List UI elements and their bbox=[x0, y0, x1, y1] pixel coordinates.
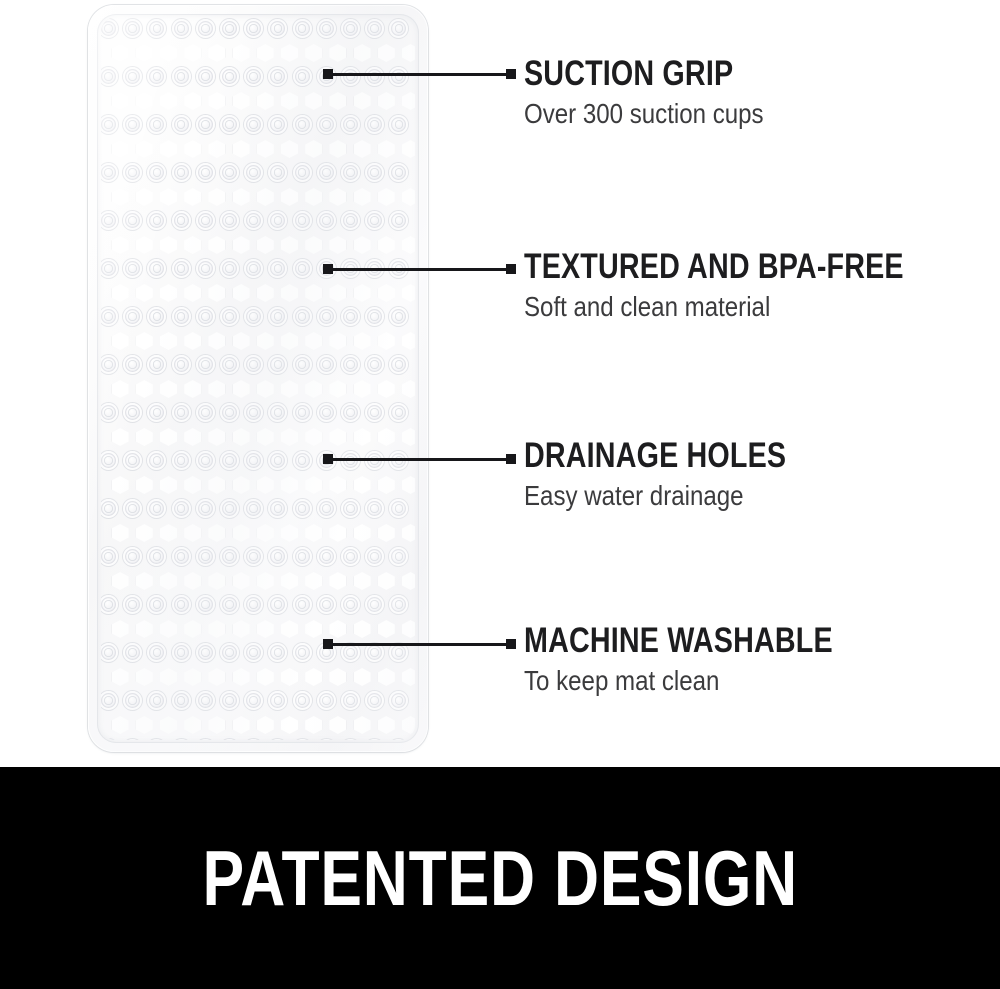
suction-cup bbox=[196, 307, 215, 326]
suction-cup bbox=[123, 643, 142, 662]
drainage-hole bbox=[208, 380, 225, 398]
suction-cup bbox=[147, 67, 166, 86]
drainage-hole bbox=[402, 524, 415, 542]
drainage-hole bbox=[402, 44, 415, 62]
drainage-hole bbox=[257, 140, 274, 158]
suction-cup bbox=[147, 403, 166, 422]
drainage-hole bbox=[305, 476, 322, 494]
suction-cup bbox=[365, 67, 384, 86]
drainage-hole bbox=[112, 284, 129, 302]
suction-cup bbox=[341, 307, 360, 326]
drainage-hole bbox=[257, 476, 274, 494]
drainage-hole bbox=[160, 284, 177, 302]
suction-cup bbox=[365, 595, 384, 614]
suction-cup bbox=[123, 547, 142, 566]
drainage-hole bbox=[305, 44, 322, 62]
suction-cup bbox=[341, 403, 360, 422]
drainage-hole bbox=[233, 572, 250, 590]
suction-cup bbox=[389, 691, 408, 710]
drainage-hole bbox=[329, 428, 346, 446]
suction-cup bbox=[123, 211, 142, 230]
suction-cup bbox=[268, 355, 287, 374]
suction-cup bbox=[101, 595, 118, 614]
suction-cup bbox=[389, 19, 408, 38]
suction-cup bbox=[268, 307, 287, 326]
drainage-hole bbox=[257, 668, 274, 686]
drainage-hole bbox=[305, 620, 322, 638]
suction-cup bbox=[317, 115, 336, 134]
drainage-hole bbox=[112, 140, 129, 158]
drainage-hole bbox=[160, 428, 177, 446]
suction-cup bbox=[172, 163, 191, 182]
drainage-hole bbox=[281, 524, 298, 542]
drainage-hole bbox=[184, 44, 201, 62]
suction-cup bbox=[317, 739, 336, 740]
drainage-hole bbox=[233, 524, 250, 542]
drainage-hole bbox=[112, 620, 129, 638]
mat-row bbox=[101, 89, 415, 113]
drainage-hole bbox=[208, 716, 225, 734]
suction-cup bbox=[101, 739, 118, 740]
drainage-hole bbox=[378, 236, 395, 254]
suction-cup bbox=[341, 115, 360, 134]
drainage-hole bbox=[257, 524, 274, 542]
drainage-hole bbox=[305, 668, 322, 686]
drainage-hole bbox=[136, 332, 153, 350]
drainage-hole bbox=[112, 236, 129, 254]
drainage-hole bbox=[402, 716, 415, 734]
suction-cup bbox=[101, 19, 118, 38]
suction-cup bbox=[293, 67, 312, 86]
drainage-hole bbox=[354, 92, 371, 110]
drainage-hole bbox=[208, 44, 225, 62]
suction-cup bbox=[123, 739, 142, 740]
suction-cup bbox=[196, 211, 215, 230]
suction-cup bbox=[341, 355, 360, 374]
suction-cup bbox=[293, 547, 312, 566]
leader-node-end bbox=[506, 264, 516, 274]
drainage-hole bbox=[112, 524, 129, 542]
drainage-hole bbox=[305, 524, 322, 542]
suction-cup bbox=[147, 307, 166, 326]
suction-cup bbox=[196, 67, 215, 86]
drainage-hole bbox=[378, 140, 395, 158]
suction-cup bbox=[147, 355, 166, 374]
callout-title: SUCTION GRIP bbox=[524, 56, 752, 92]
mat-row bbox=[101, 41, 415, 65]
suction-cup bbox=[365, 739, 384, 740]
mat-row bbox=[101, 737, 415, 740]
drainage-hole bbox=[329, 524, 346, 542]
drainage-hole bbox=[402, 188, 415, 206]
suction-cup bbox=[220, 691, 239, 710]
drainage-hole bbox=[208, 188, 225, 206]
suction-cup bbox=[268, 739, 287, 740]
drainage-hole bbox=[233, 476, 250, 494]
suction-cup bbox=[101, 403, 118, 422]
leader-line bbox=[328, 73, 506, 76]
drainage-hole bbox=[208, 428, 225, 446]
drainage-hole bbox=[354, 476, 371, 494]
drainage-hole bbox=[354, 188, 371, 206]
drainage-hole bbox=[233, 236, 250, 254]
suction-cup bbox=[389, 163, 408, 182]
suction-cup bbox=[123, 595, 142, 614]
suction-cup bbox=[196, 115, 215, 134]
leader-node-end bbox=[506, 639, 516, 649]
mat-row bbox=[101, 209, 415, 233]
drainage-hole bbox=[378, 284, 395, 302]
drainage-hole bbox=[402, 140, 415, 158]
suction-cup bbox=[317, 547, 336, 566]
suction-cup bbox=[220, 643, 239, 662]
drainage-hole bbox=[402, 668, 415, 686]
drainage-hole bbox=[354, 524, 371, 542]
callout-text: MACHINE WASHABLETo keep mat clean bbox=[524, 623, 901, 697]
suction-cup bbox=[147, 739, 166, 740]
drainage-hole bbox=[208, 572, 225, 590]
drainage-hole bbox=[208, 668, 225, 686]
drainage-hole bbox=[329, 380, 346, 398]
callout-title: DRAINAGE HOLES bbox=[524, 438, 786, 474]
drainage-hole bbox=[160, 620, 177, 638]
suction-cup bbox=[196, 499, 215, 518]
suction-cup bbox=[365, 499, 384, 518]
suction-cup bbox=[293, 499, 312, 518]
drainage-hole bbox=[281, 188, 298, 206]
suction-cup bbox=[365, 547, 384, 566]
mat-row bbox=[101, 281, 415, 305]
mat-row bbox=[101, 665, 415, 689]
suction-cup bbox=[172, 499, 191, 518]
drainage-hole bbox=[208, 476, 225, 494]
suction-cup bbox=[172, 115, 191, 134]
suction-cup bbox=[365, 403, 384, 422]
drainage-hole bbox=[305, 188, 322, 206]
suction-cup bbox=[293, 643, 312, 662]
suction-cup bbox=[389, 739, 408, 740]
suction-cup bbox=[147, 163, 166, 182]
drainage-hole bbox=[208, 524, 225, 542]
patented-design-banner: PATENTED DESIGN bbox=[0, 767, 1000, 989]
suction-cup bbox=[365, 211, 384, 230]
suction-cup bbox=[196, 259, 215, 278]
drainage-hole bbox=[378, 380, 395, 398]
suction-cup bbox=[244, 355, 263, 374]
product-image-area: SUCTION GRIPOver 300 suction cupsTEXTURE… bbox=[0, 0, 1000, 767]
drainage-hole bbox=[329, 572, 346, 590]
drainage-hole bbox=[112, 428, 129, 446]
suction-cup bbox=[220, 451, 239, 470]
suction-cup bbox=[293, 739, 312, 740]
suction-cup bbox=[268, 691, 287, 710]
drainage-hole bbox=[233, 428, 250, 446]
suction-cup bbox=[268, 211, 287, 230]
drainage-hole bbox=[378, 188, 395, 206]
suction-cup bbox=[220, 163, 239, 182]
suction-cup bbox=[172, 739, 191, 740]
suction-cup bbox=[172, 259, 191, 278]
drainage-hole bbox=[233, 620, 250, 638]
drainage-hole bbox=[160, 476, 177, 494]
drainage-hole bbox=[305, 716, 322, 734]
drainage-hole bbox=[354, 332, 371, 350]
suction-cup bbox=[341, 595, 360, 614]
drainage-hole bbox=[281, 92, 298, 110]
drainage-hole bbox=[160, 332, 177, 350]
leader-node-end bbox=[506, 69, 516, 79]
callout-subtitle: To keep mat clean bbox=[524, 665, 848, 697]
suction-cup bbox=[365, 355, 384, 374]
suction-cup bbox=[172, 355, 191, 374]
drainage-hole bbox=[112, 188, 129, 206]
mat-row bbox=[101, 401, 415, 425]
suction-cup bbox=[341, 547, 360, 566]
suction-cup bbox=[123, 259, 142, 278]
drainage-hole bbox=[257, 44, 274, 62]
suction-cup bbox=[293, 19, 312, 38]
suction-cup bbox=[244, 643, 263, 662]
drainage-hole bbox=[184, 428, 201, 446]
drainage-hole bbox=[329, 668, 346, 686]
mat-row bbox=[101, 425, 415, 449]
mat-row bbox=[101, 497, 415, 521]
drainage-hole bbox=[329, 236, 346, 254]
drainage-hole bbox=[160, 572, 177, 590]
leader-line bbox=[328, 458, 506, 461]
mat-row bbox=[101, 233, 415, 257]
leader-node-start bbox=[323, 639, 333, 649]
suction-cup bbox=[389, 595, 408, 614]
suction-cup bbox=[268, 451, 287, 470]
drainage-hole bbox=[257, 332, 274, 350]
drainage-hole bbox=[233, 668, 250, 686]
suction-cup bbox=[317, 595, 336, 614]
callout-title: TEXTURED AND BPA-FREE bbox=[524, 249, 904, 285]
mat-row bbox=[101, 305, 415, 329]
suction-cup bbox=[268, 499, 287, 518]
suction-cup bbox=[389, 355, 408, 374]
suction-cup bbox=[293, 307, 312, 326]
drainage-hole bbox=[184, 284, 201, 302]
suction-cup bbox=[293, 403, 312, 422]
drainage-hole bbox=[305, 428, 322, 446]
bath-mat-product bbox=[88, 5, 428, 752]
suction-cup bbox=[389, 67, 408, 86]
drainage-hole bbox=[184, 380, 201, 398]
drainage-hole bbox=[136, 476, 153, 494]
drainage-hole bbox=[184, 332, 201, 350]
drainage-hole bbox=[112, 44, 129, 62]
drainage-hole bbox=[329, 188, 346, 206]
drainage-hole bbox=[305, 572, 322, 590]
drainage-hole bbox=[257, 716, 274, 734]
suction-cup bbox=[147, 211, 166, 230]
drainage-hole bbox=[233, 284, 250, 302]
suction-cup bbox=[147, 451, 166, 470]
drainage-hole bbox=[305, 332, 322, 350]
drainage-hole bbox=[281, 236, 298, 254]
drainage-hole bbox=[112, 476, 129, 494]
drainage-hole bbox=[257, 428, 274, 446]
drainage-hole bbox=[184, 620, 201, 638]
drainage-hole bbox=[354, 140, 371, 158]
suction-cup bbox=[317, 355, 336, 374]
suction-cup bbox=[389, 307, 408, 326]
leader-node-end bbox=[506, 454, 516, 464]
suction-cup bbox=[101, 67, 118, 86]
drainage-hole bbox=[112, 572, 129, 590]
drainage-hole bbox=[160, 236, 177, 254]
drainage-hole bbox=[354, 620, 371, 638]
leader-line bbox=[328, 268, 506, 271]
drainage-hole bbox=[378, 428, 395, 446]
suction-cup bbox=[220, 499, 239, 518]
drainage-hole bbox=[329, 284, 346, 302]
drainage-hole bbox=[329, 332, 346, 350]
suction-cup bbox=[293, 451, 312, 470]
drainage-hole bbox=[136, 284, 153, 302]
drainage-hole bbox=[136, 380, 153, 398]
drainage-hole bbox=[208, 332, 225, 350]
drainage-hole bbox=[160, 380, 177, 398]
suction-cup bbox=[147, 595, 166, 614]
suction-cup bbox=[293, 691, 312, 710]
suction-cup bbox=[341, 499, 360, 518]
suction-cup bbox=[220, 739, 239, 740]
suction-cup bbox=[317, 403, 336, 422]
suction-cup bbox=[196, 355, 215, 374]
drainage-hole bbox=[136, 524, 153, 542]
suction-cup bbox=[365, 19, 384, 38]
drainage-hole bbox=[402, 92, 415, 110]
drainage-hole bbox=[378, 572, 395, 590]
mat-row bbox=[101, 521, 415, 545]
drainage-hole bbox=[112, 716, 129, 734]
suction-cup bbox=[244, 451, 263, 470]
drainage-hole bbox=[402, 476, 415, 494]
leader-node-start bbox=[323, 264, 333, 274]
drainage-hole bbox=[329, 44, 346, 62]
drainage-hole bbox=[208, 140, 225, 158]
suction-cup bbox=[365, 163, 384, 182]
drainage-hole bbox=[281, 284, 298, 302]
callout-subtitle: Soft and clean material bbox=[524, 291, 922, 323]
drainage-hole bbox=[184, 236, 201, 254]
drainage-hole bbox=[281, 620, 298, 638]
drainage-hole bbox=[402, 428, 415, 446]
drainage-hole bbox=[257, 620, 274, 638]
suction-cup bbox=[196, 403, 215, 422]
callout-text: TEXTURED AND BPA-FREESoft and clean mate… bbox=[524, 249, 987, 323]
callout-subtitle: Over 300 suction cups bbox=[524, 98, 764, 130]
suction-cup bbox=[341, 163, 360, 182]
suction-cup bbox=[365, 691, 384, 710]
suction-cup bbox=[101, 499, 118, 518]
drainage-hole bbox=[378, 668, 395, 686]
mat-row bbox=[101, 473, 415, 497]
suction-cup bbox=[101, 163, 118, 182]
suction-cup bbox=[123, 355, 142, 374]
suction-cup bbox=[101, 355, 118, 374]
drainage-hole bbox=[281, 572, 298, 590]
drainage-hole bbox=[281, 380, 298, 398]
mat-row bbox=[101, 689, 415, 713]
suction-cup bbox=[317, 499, 336, 518]
callout-subtitle: Easy water drainage bbox=[524, 480, 799, 512]
suction-cup bbox=[101, 307, 118, 326]
suction-cup bbox=[196, 739, 215, 740]
suction-cup bbox=[147, 499, 166, 518]
suction-cup bbox=[389, 499, 408, 518]
suction-cup bbox=[389, 211, 408, 230]
drainage-hole bbox=[233, 140, 250, 158]
suction-cup bbox=[123, 451, 142, 470]
suction-cup bbox=[293, 211, 312, 230]
suction-cup bbox=[172, 643, 191, 662]
suction-cup bbox=[101, 115, 118, 134]
suction-cup bbox=[196, 643, 215, 662]
suction-cup bbox=[147, 115, 166, 134]
suction-cup bbox=[268, 643, 287, 662]
drainage-hole bbox=[354, 572, 371, 590]
suction-cup bbox=[268, 19, 287, 38]
suction-cup bbox=[123, 403, 142, 422]
drainage-hole bbox=[329, 476, 346, 494]
suction-cup bbox=[172, 19, 191, 38]
suction-cup bbox=[123, 115, 142, 134]
suction-cup bbox=[123, 691, 142, 710]
drainage-hole bbox=[329, 620, 346, 638]
drainage-hole bbox=[136, 572, 153, 590]
drainage-hole bbox=[257, 188, 274, 206]
suction-cup bbox=[341, 691, 360, 710]
drainage-hole bbox=[233, 188, 250, 206]
drainage-hole bbox=[281, 44, 298, 62]
drainage-hole bbox=[184, 140, 201, 158]
drainage-hole bbox=[354, 380, 371, 398]
drainage-hole bbox=[378, 44, 395, 62]
drainage-hole bbox=[136, 716, 153, 734]
suction-cup bbox=[268, 115, 287, 134]
suction-cup bbox=[101, 691, 118, 710]
suction-cup bbox=[123, 163, 142, 182]
suction-cup bbox=[244, 19, 263, 38]
drainage-hole bbox=[257, 92, 274, 110]
drainage-hole bbox=[160, 668, 177, 686]
suction-cup bbox=[172, 595, 191, 614]
drainage-hole bbox=[305, 380, 322, 398]
suction-cup bbox=[220, 259, 239, 278]
drainage-hole bbox=[136, 668, 153, 686]
drainage-hole bbox=[378, 92, 395, 110]
mat-row bbox=[101, 329, 415, 353]
suction-cup bbox=[244, 499, 263, 518]
drainage-hole bbox=[160, 92, 177, 110]
suction-cup bbox=[268, 163, 287, 182]
suction-cup bbox=[293, 163, 312, 182]
suction-cup bbox=[244, 211, 263, 230]
suction-cup bbox=[172, 547, 191, 566]
suction-cup bbox=[389, 115, 408, 134]
suction-cup bbox=[196, 595, 215, 614]
mat-row bbox=[101, 593, 415, 617]
drainage-hole bbox=[329, 716, 346, 734]
suction-cup bbox=[293, 595, 312, 614]
suction-cup bbox=[172, 451, 191, 470]
drainage-hole bbox=[136, 92, 153, 110]
suction-cup bbox=[196, 547, 215, 566]
